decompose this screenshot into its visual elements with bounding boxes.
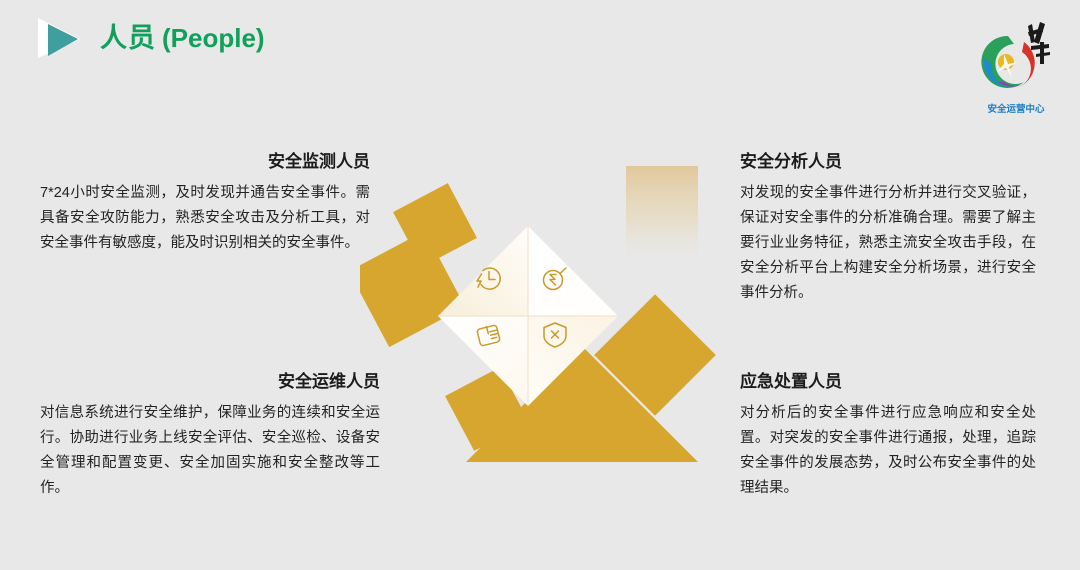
role-block-analyst: 安全分析人员 对发现的安全事件进行分析并进行交叉验证，保证对安全事件的分析准确合… xyxy=(740,152,1036,306)
role-title-monitor: 安全监测人员 xyxy=(40,152,370,172)
page-title: 人员 (People) xyxy=(100,25,265,52)
role-title-analyst: 安全分析人员 xyxy=(740,152,1036,172)
quadrant-top-right xyxy=(528,226,618,316)
role-body-ops: 对信息系统进行安全维护，保障业务的连续和安全运行。协助进行业务上线安全评估、安全… xyxy=(40,401,380,501)
role-body-analyst: 对发现的安全事件进行分析并进行交叉验证，保证对安全事件的分析准确合理。需要了解主… xyxy=(740,181,1036,306)
logo-caption: 安全运营中心 xyxy=(987,103,1045,115)
page-header: 人员 (People) xyxy=(34,14,265,62)
role-block-ops: 安全运维人员 对信息系统进行安全维护，保障业务的连续和安全运行。协助进行业务上线… xyxy=(40,372,380,501)
role-title-ops: 安全运维人员 xyxy=(40,372,380,392)
role-body-monitor: 7*24小时安全监测，及时发现并通告安全事件。需具备安全攻防能力，熟悉安全攻击及… xyxy=(40,181,370,256)
play-triangle-icon xyxy=(34,14,86,62)
role-title-response: 应急处置人员 xyxy=(740,372,1036,392)
tangram-diamond-illustration xyxy=(360,150,720,490)
role-block-monitor: 安全监测人员 7*24小时安全监测，及时发现并通告安全事件。需具备安全攻防能力，… xyxy=(40,152,370,256)
role-block-response: 应急处置人员 对分析后的安全事件进行应急响应和安全处置。对突发的安全事件进行通报… xyxy=(740,372,1036,501)
beidou-security-operations-logo: 安全运营中心 xyxy=(970,16,1062,116)
page-title-cn: 人员 xyxy=(100,25,156,52)
fade-rectangle-shape xyxy=(626,166,698,268)
page-title-en: (People) xyxy=(162,25,265,51)
role-body-response: 对分析后的安全事件进行应急响应和安全处置。对突发的安全事件进行通报，处理，追踪安… xyxy=(740,401,1036,501)
